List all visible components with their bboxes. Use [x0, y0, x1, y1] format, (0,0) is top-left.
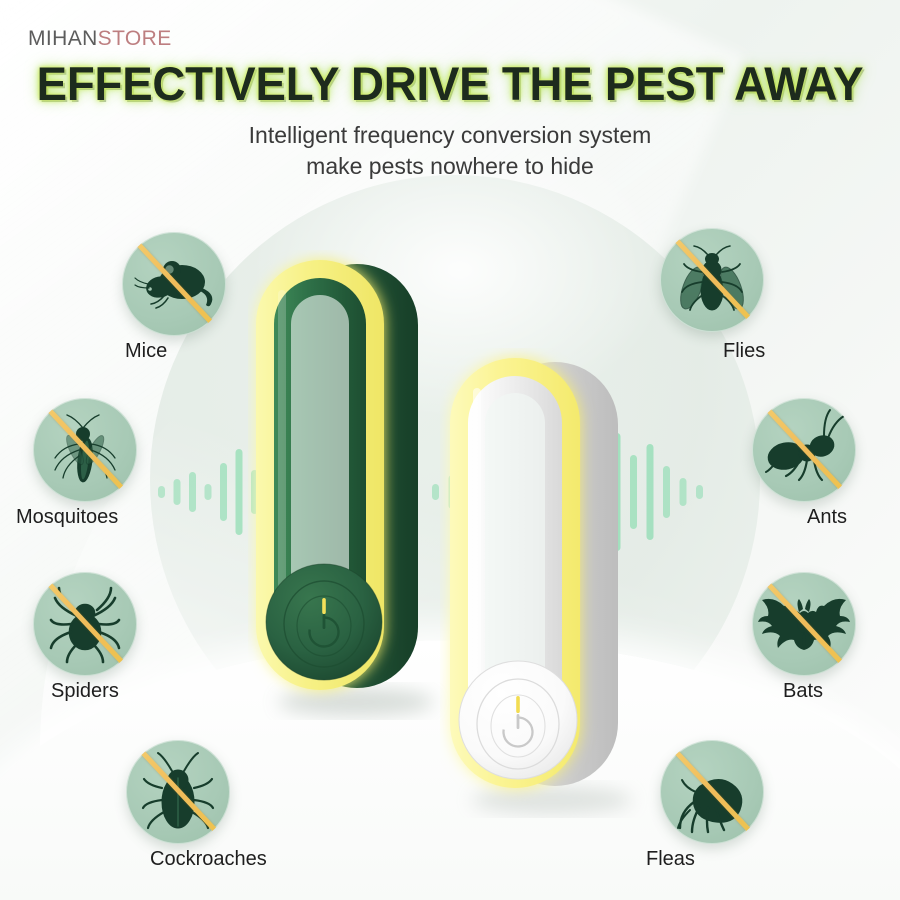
pest-badge-mosquitoes[interactable]	[33, 398, 137, 502]
brand-logo-primary: MIHAN	[28, 27, 98, 50]
pest-label-flies: Flies	[723, 340, 765, 363]
soundwave-bar	[680, 478, 687, 506]
device-shadow-green	[278, 688, 434, 716]
soundwave-bar	[205, 484, 212, 500]
soundwave-bar	[696, 485, 703, 499]
soundwave-bar	[189, 472, 196, 512]
pest-badge-bats[interactable]	[752, 572, 856, 676]
power-button-white[interactable]	[459, 661, 577, 779]
page-title: EFFECTIVELY DRIVE THE PEST AWAY	[14, 56, 887, 111]
soundwave-bar	[236, 449, 243, 535]
power-button-green[interactable]	[266, 564, 382, 680]
pest-badge-fleas[interactable]	[660, 740, 764, 844]
device-shadow-white	[472, 786, 632, 814]
repeller-device-green[interactable]	[248, 250, 458, 720]
repeller-device-white[interactable]	[440, 348, 655, 818]
subtitle-line-1: Intelligent frequency conversion system	[0, 120, 900, 151]
page-subtitle: Intelligent frequency conversion system …	[0, 120, 900, 182]
brand-logo: MIHANSTORE	[28, 27, 172, 51]
brand-logo-accent: STORE	[98, 27, 172, 50]
pest-label-spiders: Spiders	[51, 680, 119, 703]
pest-badge-flies[interactable]	[660, 228, 764, 332]
pest-label-bats: Bats	[783, 680, 823, 703]
pest-label-ants: Ants	[807, 506, 847, 529]
soundwave-bar	[158, 486, 165, 498]
led-indicator-green	[322, 598, 326, 614]
pest-badge-mice[interactable]	[122, 232, 226, 336]
pest-label-fleas: Fleas	[646, 848, 695, 871]
pest-label-mosquitoes: Mosquitoes	[16, 506, 118, 529]
pest-badge-ants[interactable]	[752, 398, 856, 502]
led-indicator-white	[516, 696, 520, 713]
pest-label-mice: Mice	[125, 340, 167, 363]
pest-badge-spiders[interactable]	[33, 572, 137, 676]
subtitle-line-2: make pests nowhere to hide	[0, 151, 900, 182]
pest-label-cockroaches: Cockroaches	[150, 848, 267, 871]
product-infographic: MIHANSTORE EFFECTIVELY DRIVE THE PEST AW…	[0, 0, 900, 900]
soundwave-bar	[220, 463, 227, 521]
soundwave-bar	[174, 479, 181, 505]
pest-badge-cockroaches[interactable]	[126, 740, 230, 844]
soundwave-bar	[663, 466, 670, 518]
